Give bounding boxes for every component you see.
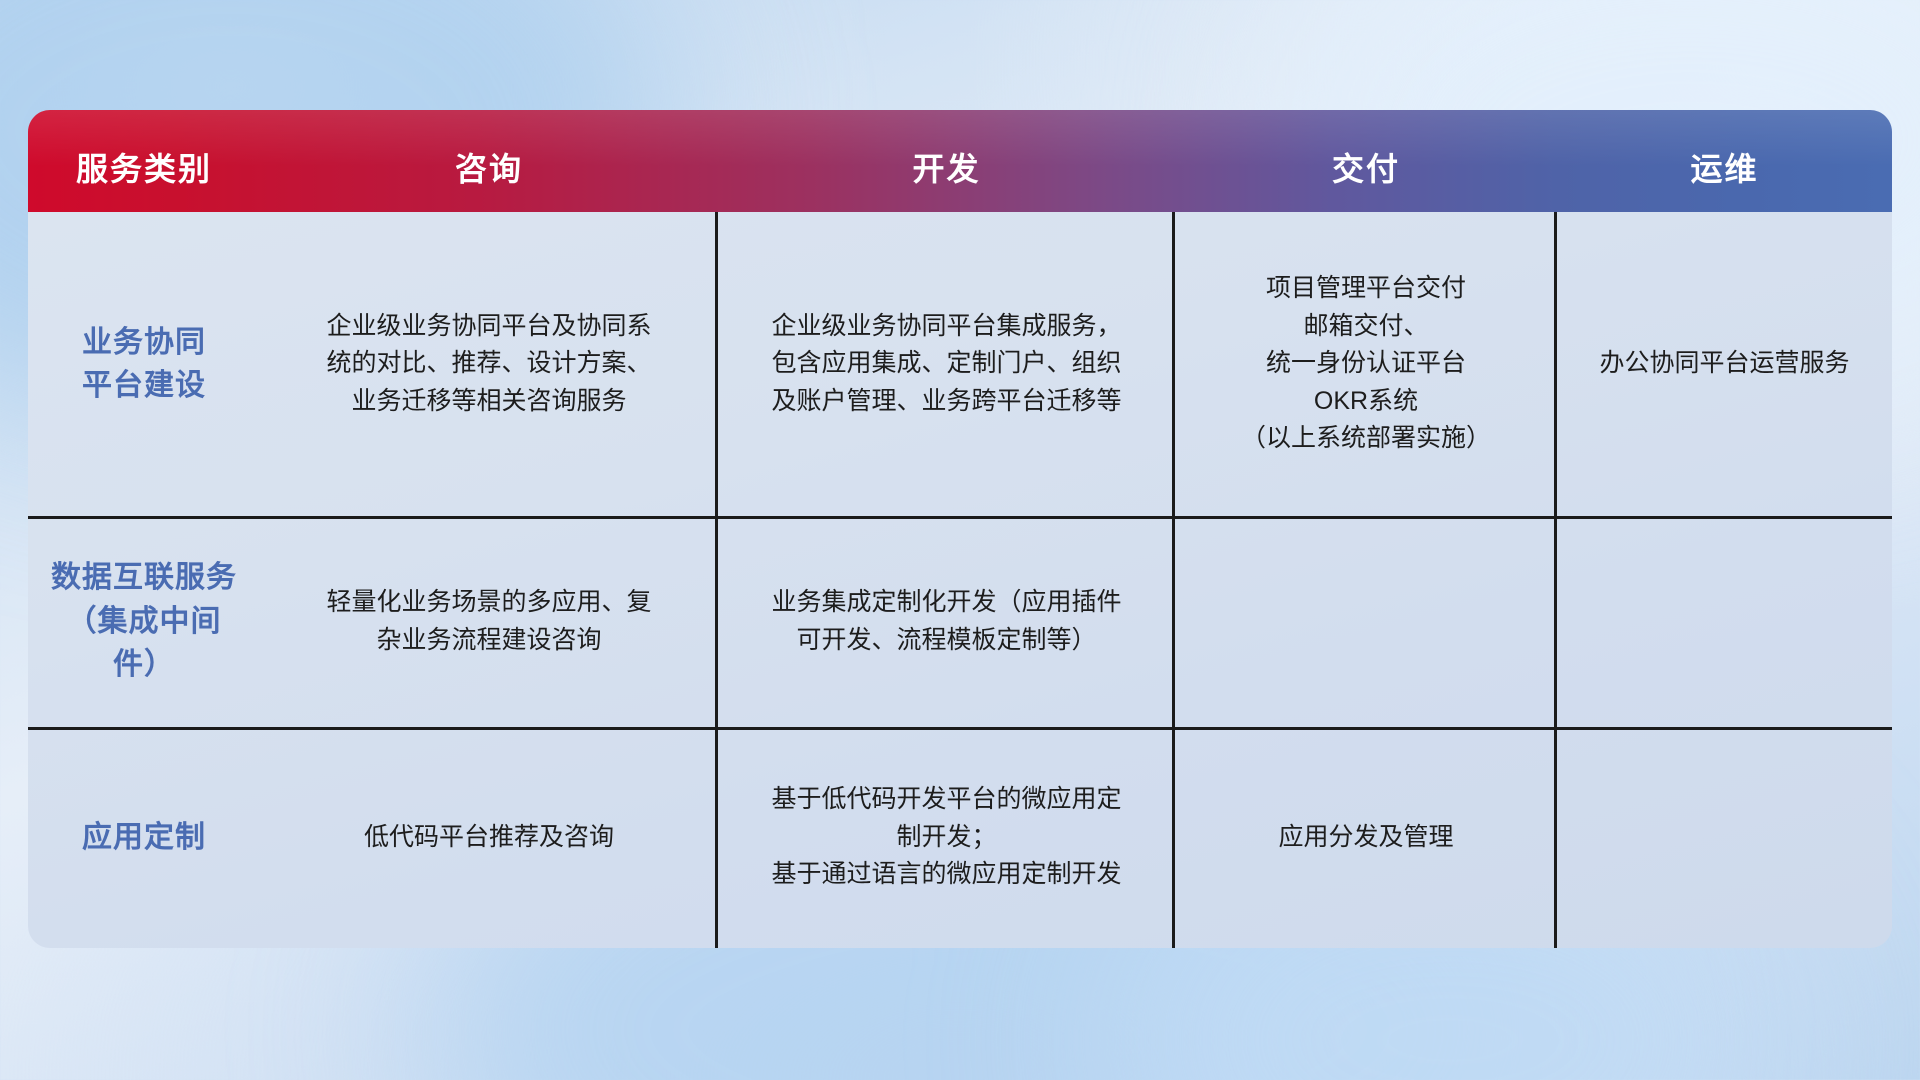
table-row: 数据互联服务 （集成中间件） 轻量化业务场景的多应用、复 杂业务流程建设咨询 业…	[28, 516, 1892, 727]
cell-consulting: 轻量化业务场景的多应用、复 杂业务流程建设咨询	[260, 516, 718, 727]
table-row: 应用定制 低代码平台推荐及咨询 基于低代码开发平台的微应用定 制开发； 基于通过…	[28, 727, 1892, 948]
cell-delivery: 应用分发及管理	[1175, 727, 1557, 948]
cell-development: 业务集成定制化开发（应用插件 可开发、流程模板定制等）	[718, 516, 1175, 727]
cell-category: 业务协同 平台建设	[28, 212, 260, 516]
column-header-delivery: 交付	[1175, 144, 1557, 212]
table-row: 业务协同 平台建设 企业级业务协同平台及协同系 统的对比、推荐、设计方案、 业务…	[28, 212, 1892, 516]
cell-category: 应用定制	[28, 727, 260, 948]
cell-operations	[1557, 516, 1892, 727]
cell-consulting: 企业级业务协同平台及协同系 统的对比、推荐、设计方案、 业务迁移等相关咨询服务	[260, 212, 718, 516]
column-header-operations: 运维	[1557, 144, 1892, 212]
cell-operations: 办公协同平台运营服务	[1557, 212, 1892, 516]
cell-delivery: 项目管理平台交付 邮箱交付、 统一身份认证平台 OKR系统 （以上系统部署实施）	[1175, 212, 1557, 516]
column-header-consulting: 咨询	[260, 144, 718, 212]
cell-consulting: 低代码平台推荐及咨询	[260, 727, 718, 948]
cell-development: 企业级业务协同平台集成服务， 包含应用集成、定制门户、组织 及账户管理、业务跨平…	[718, 212, 1175, 516]
column-header-category: 服务类别	[28, 144, 260, 212]
table-header-row: 服务类别 咨询 开发 交付 运维	[28, 110, 1892, 212]
column-header-development: 开发	[718, 144, 1175, 212]
cell-category: 数据互联服务 （集成中间件）	[28, 516, 260, 727]
cell-operations	[1557, 727, 1892, 948]
cell-development: 基于低代码开发平台的微应用定 制开发； 基于通过语言的微应用定制开发	[718, 727, 1175, 948]
service-matrix-table: 服务类别 咨询 开发 交付 运维 业务协同 平台建设 企业级业务协同平台及协同系…	[28, 110, 1892, 948]
table-body: 业务协同 平台建设 企业级业务协同平台及协同系 统的对比、推荐、设计方案、 业务…	[28, 212, 1892, 948]
cell-delivery	[1175, 516, 1557, 727]
